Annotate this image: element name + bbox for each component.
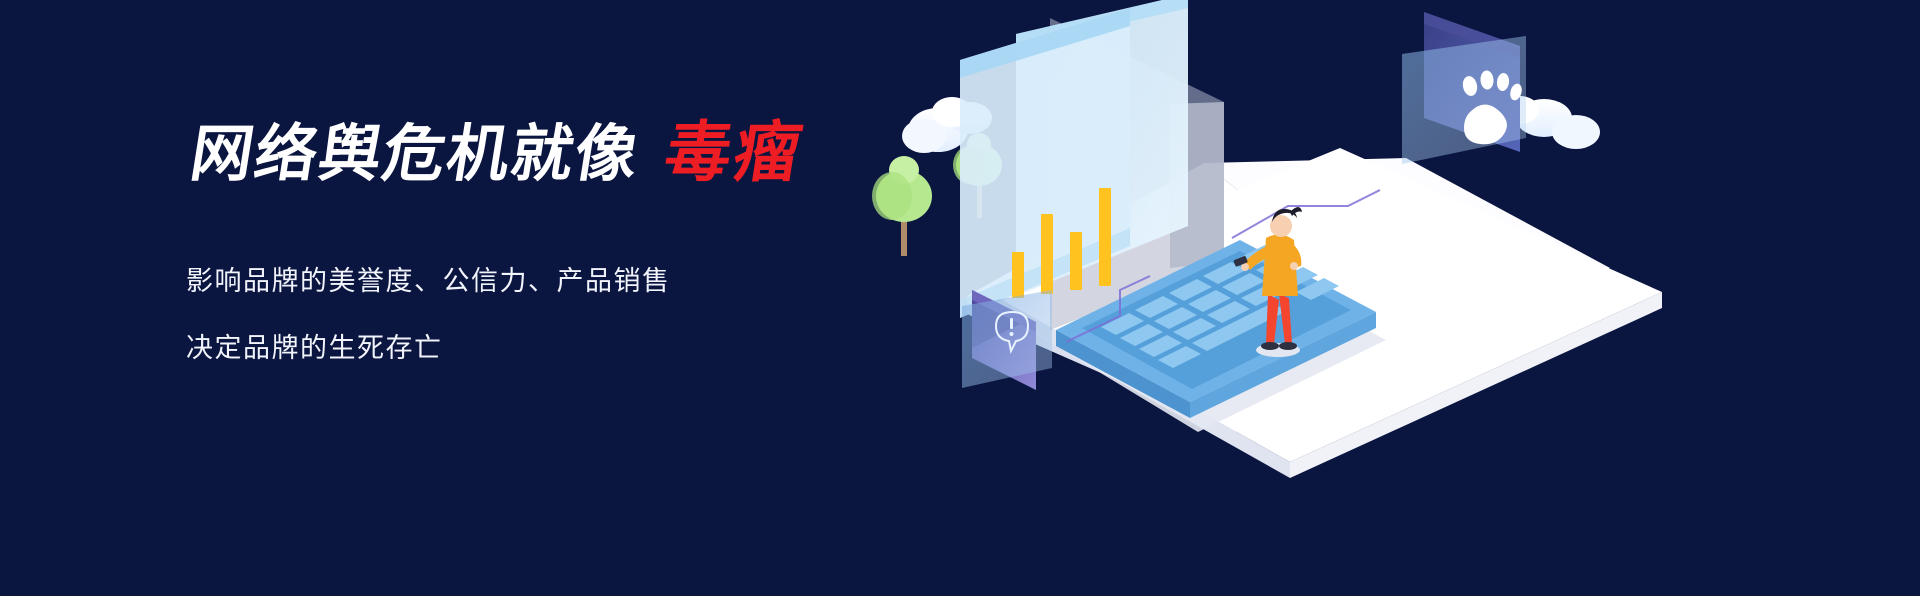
subtitle-line-1: 影响品牌的美誉度、公信力、产品销售 [186, 259, 946, 298]
subtitle-line-2: 决定品牌的生死存亡 [186, 326, 946, 365]
headline: 网络舆危机就像毒瘤 [186, 118, 957, 187]
headline-main: 网络舆危机就像 [186, 120, 645, 189]
hero-illustration [820, 0, 1920, 596]
alert-bubble-card [962, 290, 1052, 390]
headline-accent: 毒瘤 [660, 115, 810, 189]
baidu-paw-card [1402, 12, 1526, 164]
hero-text-block: 网络舆危机就像毒瘤 影响品牌的美誉度、公信力、产品销售 决定品牌的生死存亡 [186, 118, 946, 365]
hero-banner: 网络舆危机就像毒瘤 影响品牌的美誉度、公信力、产品销售 决定品牌的生死存亡 [0, 0, 1920, 596]
